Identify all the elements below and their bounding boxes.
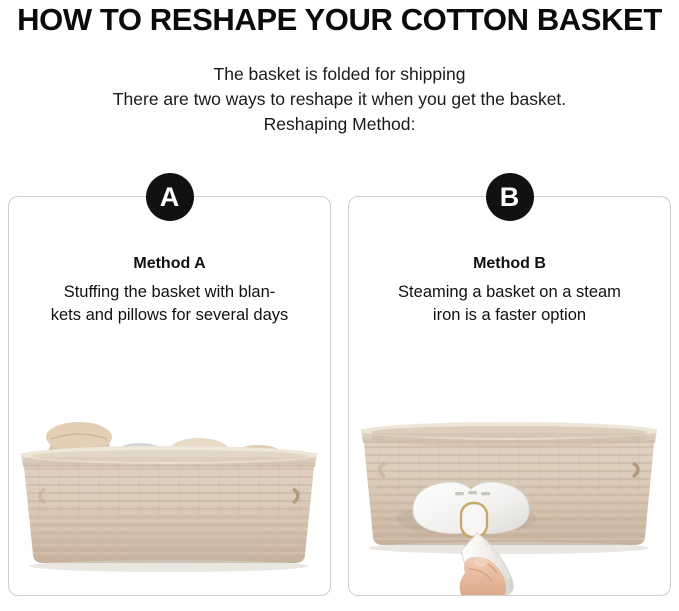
method-b-description: Steaming a basket on a steam iron is a f… (349, 281, 670, 327)
intro-line-2: There are two ways to reshape it when yo… (0, 87, 679, 112)
infographic-page: HOW TO RESHAPE YOUR COTTON BASKET The ba… (0, 0, 679, 611)
rope-weave-texture (9, 457, 329, 567)
intro-paragraph: The basket is folded for shipping There … (0, 62, 679, 137)
method-a-title: Method A (9, 255, 330, 273)
method-b-title: Method B (349, 255, 670, 273)
cotton-rope-basket (9, 446, 329, 572)
method-b-badge: B (486, 173, 534, 221)
method-a-illustration (9, 337, 330, 595)
page-title: HOW TO RESHAPE YOUR COTTON BASKET (0, 0, 679, 40)
steamer-power-button (461, 503, 487, 537)
method-a-description: Stuffing the basket with blan- kets and … (9, 281, 330, 327)
method-a-panel: A Method A Stuffing the basket with blan… (8, 196, 331, 596)
basket-with-steamer-image (349, 337, 669, 595)
method-b-panel: B Method B Steaming a basket on a steam … (348, 196, 671, 596)
method-a-badge: A (146, 173, 194, 221)
basket-with-blankets-image (9, 337, 329, 595)
methods-panels: A Method A Stuffing the basket with blan… (8, 196, 671, 601)
intro-line-3: Reshaping Method: (0, 112, 679, 137)
intro-line-1: The basket is folded for shipping (0, 62, 679, 87)
method-b-illustration (349, 337, 670, 595)
